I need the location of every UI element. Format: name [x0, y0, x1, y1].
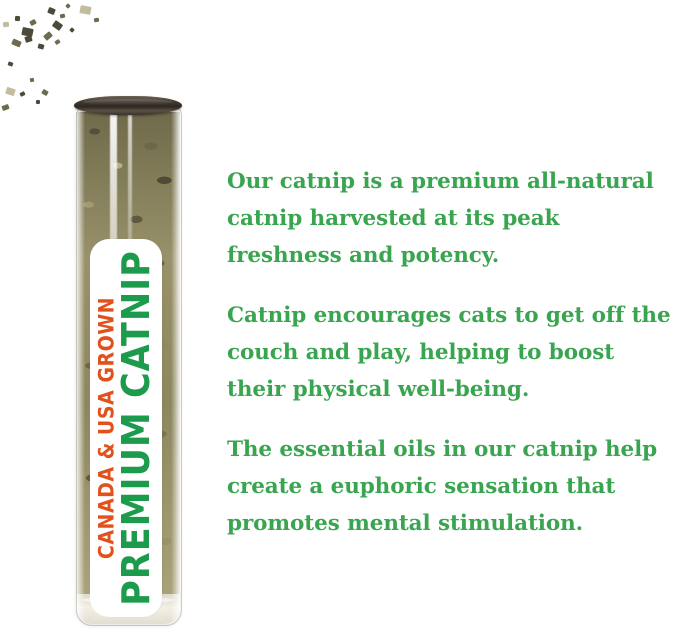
- product-feature-page: CANADA & USA GROWN PREMIUM CATNIP Our ca…: [0, 0, 679, 643]
- marketing-copy: Our catnip is a premium all-natural catn…: [227, 163, 679, 542]
- copy-paragraph-1: Our catnip is a premium all-natural catn…: [227, 163, 679, 274]
- copy-paragraph-2: Catnip encourages cats to get off the co…: [227, 297, 679, 408]
- catnip-tube: CANADA & USA GROWN PREMIUM CATNIP: [72, 96, 184, 636]
- copy-paragraph-3: The essential oils in our catnip help cr…: [227, 431, 679, 542]
- product-label-sticker: CANADA & USA GROWN PREMIUM CATNIP: [93, 242, 159, 614]
- tube-cap: [74, 96, 182, 115]
- label-product-name-text: PREMIUM CATNIP: [118, 250, 157, 606]
